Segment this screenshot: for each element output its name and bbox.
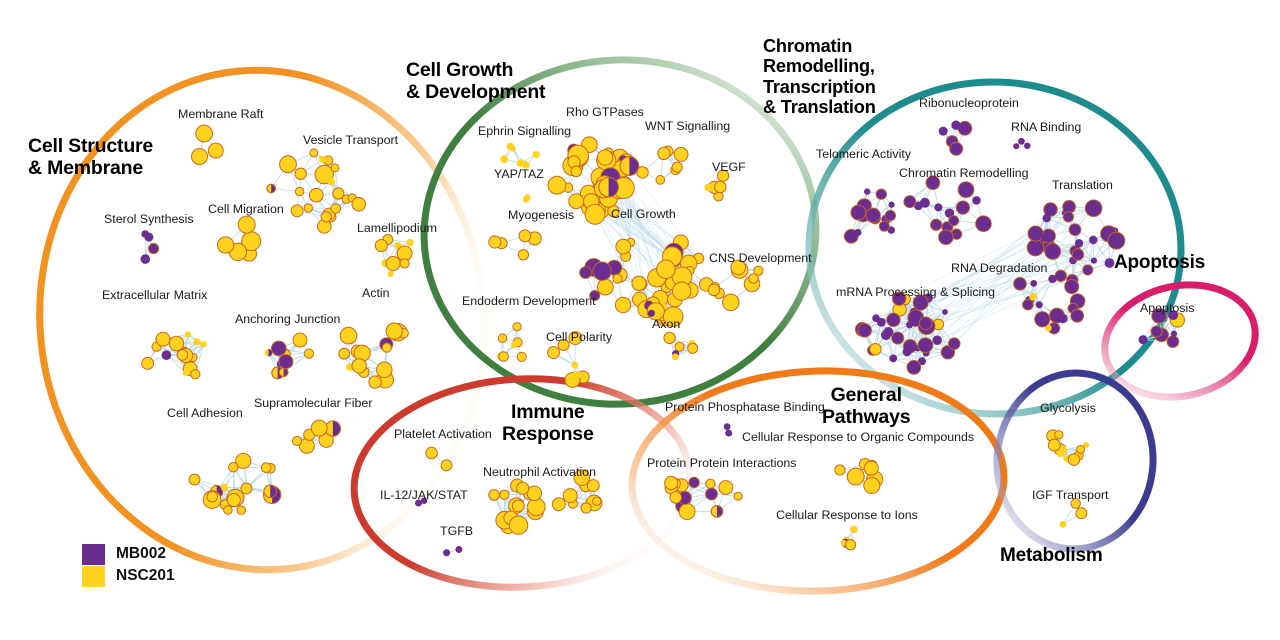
cluster-label-glycolysis: Glycolysis [1040,401,1096,415]
network-node [321,212,331,222]
network-node [513,323,521,331]
cluster-label-mrna-processing-splicing: mRNA Processing & Splicing [836,285,995,299]
cluster-label-axon: Axon [652,317,680,331]
network-node [386,323,402,339]
network-node [950,142,963,155]
cluster-label-vesicle-transport: Vesicle Transport [303,133,398,147]
network-node [264,485,277,498]
pathway-network-figure: Cell Structure & Membrane Cell Growth & … [0,0,1280,640]
network-node [1108,232,1125,249]
network-node [455,546,462,553]
network-node [227,493,240,506]
network-node [279,368,288,377]
cluster-label-rho-gtpases: Rho GTPases [566,105,644,119]
cluster-label-ephrin-signalling: Ephrin Signalling [478,124,571,138]
network-node [1048,439,1060,451]
network-node [657,260,675,278]
network-node [956,201,969,214]
cluster-label-cell-migration: Cell Migration [208,202,284,216]
network-node [725,430,732,437]
cluster-label-il12-jak-stat: IL-12/JAK/STAT [380,488,468,502]
cluster-label-cns-development: CNS Development [709,251,812,265]
network-node [293,333,307,347]
network-node [674,147,688,161]
network-node [949,216,959,226]
network-node [185,331,191,337]
network-node [339,348,350,359]
network-node [864,188,870,194]
network-node [377,362,393,378]
network-node [261,463,271,473]
network-canvas [0,0,1280,640]
network-node [1048,275,1056,283]
group-title-general-pathways: General Pathways [822,385,910,429]
network-node [1167,336,1179,348]
network-node [672,162,682,172]
network-node [512,500,524,512]
network-node [1029,293,1037,301]
network-node [517,482,529,494]
network-node [400,259,409,268]
network-node [708,284,720,296]
network-node [295,168,306,179]
network-node [183,370,189,376]
network-node [552,498,565,511]
network-node [648,310,655,317]
cluster-label-lamellipodium: Lamellipodium [357,221,437,235]
cluster-label-platelet-activation: Platelet Activation [394,427,492,441]
network-node [1036,301,1043,308]
network-node [581,503,591,513]
cluster-label-sterol-synthesis: Sterol Synthesis [104,212,194,226]
legend-label-mb002: MB002 [116,545,166,563]
cluster-label-translation: Translation [1052,178,1113,192]
network-node [835,465,845,475]
network-node [328,178,335,185]
network-node [510,146,516,152]
network-node [518,250,528,260]
network-node [1023,299,1034,310]
network-node [870,343,881,354]
network-node [207,491,217,501]
legend-item-mb002: MB002 [82,543,175,565]
network-node [519,230,531,242]
cluster-label-membrane-raft: Membrane Raft [178,107,263,121]
cluster-label-rna-binding: RNA Binding [1011,120,1081,134]
network-node [1059,521,1066,528]
network-node [280,156,297,173]
network-node [333,188,344,199]
network-node [304,349,313,358]
network-node [532,151,539,158]
network-node [613,274,622,283]
network-node [193,338,200,345]
network-node [907,360,921,374]
network-node [563,489,577,503]
network-node [156,332,170,346]
network-node [672,353,679,360]
network-node [1027,239,1044,256]
network-node [847,468,864,485]
cluster-label-rna-degradation: RNA Degradation [951,261,1047,275]
network-node [704,184,712,192]
network-node [675,342,684,351]
legend-label-nsc201: NSC201 [116,567,175,585]
network-node [375,239,387,251]
network-node [885,210,896,221]
network-node [1058,314,1067,323]
network-node [331,164,339,172]
cluster-label-chromatin-remodelling: Chromatin Remodelling [899,166,1028,180]
network-node [850,525,858,533]
network-node [734,492,742,500]
network-node [620,157,639,176]
network-node [200,341,207,348]
network-node [1068,454,1080,466]
network-node [369,376,381,388]
network-node [191,148,207,164]
network-node [279,355,293,369]
network-node [1013,143,1019,149]
network-node [754,266,763,275]
network-node [658,147,670,159]
cluster-label-neutrophil-activation: Neutrophil Activation [483,465,596,479]
network-node [441,460,452,471]
network-node [724,423,731,430]
network-node [616,239,631,254]
network-node [951,121,960,130]
network-node [1071,309,1084,322]
network-node [1041,234,1048,241]
network-node [864,477,880,493]
network-node [208,143,223,158]
network-node [585,204,605,224]
network-node [972,196,981,205]
network-node [265,349,273,357]
network-node [443,549,450,556]
cluster-label-endoderm-development: Endoderm Development [462,294,596,308]
cluster-label-cellular-response-organic-compounds: Cellular Response to Organic Compounds [742,430,974,444]
network-node [879,221,889,231]
network-node [1014,277,1027,290]
network-node [352,197,366,211]
network-node [500,155,508,163]
cluster-label-cell-polarity: Cell Polarity [546,330,612,344]
network-node [706,488,718,500]
network-node [148,243,158,253]
network-node [407,239,414,246]
network-node [679,504,695,520]
network-node [908,196,914,202]
network-node [177,350,188,361]
network-node [845,540,855,550]
cluster-label-apoptosis-cluster: Apoptosis [1140,301,1194,315]
cluster-label-igf-transport: IGF Transport [1032,488,1108,502]
network-node [191,370,200,379]
network-node [499,352,509,362]
network-node [580,267,592,279]
network-node [1057,451,1064,458]
cluster-label-extracellular-matrix: Extracellular Matrix [102,288,207,302]
network-node [319,156,326,163]
network-node [569,194,584,209]
network-node [719,481,733,495]
network-node [911,319,919,327]
network-node [587,480,599,492]
network-node [142,357,154,369]
network-node [573,371,581,379]
network-node [887,313,901,327]
network-node [597,150,612,165]
network-node [1018,138,1025,145]
network-node [632,276,646,290]
network-node [976,216,992,232]
network-node [903,347,912,356]
cluster-label-telomeric-activity: Telomeric Activity [816,147,911,161]
network-node [144,233,153,242]
network-node [1171,331,1177,337]
network-node [292,436,301,445]
network-node [1083,265,1093,275]
network-node [711,506,723,518]
mb002-swatch [82,544,105,565]
network-node [1030,280,1037,287]
network-node [548,176,566,194]
network-node [1045,244,1061,260]
network-node [637,167,648,178]
cluster-label-wnt-signalling: WNT Signalling [645,119,730,133]
network-node [715,181,727,193]
network-node [689,477,700,488]
network-node [958,182,974,198]
network-node [267,184,276,193]
network-node [1055,270,1066,281]
network-node [571,362,578,369]
network-node [599,177,619,197]
group-title-chromatin-transcription-translation: Chromatin Remodelling, Transcription & T… [763,36,876,118]
network-node [295,187,304,196]
network-node [217,237,233,253]
network-node [221,484,229,492]
network-node [939,230,954,245]
network-node [670,492,682,504]
network-node [942,309,948,315]
network-node [1055,431,1063,439]
network-node [723,294,739,310]
network-node [1065,280,1079,294]
network-node [382,343,391,352]
network-node [864,461,878,475]
network-node [1085,200,1102,217]
group-title-immune-response: Immune Response [502,402,594,446]
network-node [489,236,501,248]
network-node [310,149,318,157]
network-node [1069,224,1081,236]
network-node [688,343,698,353]
network-node [872,314,880,322]
cluster-label-myogenesis: Myogenesis [508,208,574,222]
network-node [851,205,866,220]
network-node [509,516,527,534]
network-node [498,334,507,343]
network-node [1105,258,1115,268]
network-node [196,125,213,142]
network-node [593,262,611,280]
network-node [939,127,948,136]
network-node [352,359,366,373]
network-node [858,324,872,338]
network-node [238,216,255,233]
network-node [948,338,960,350]
network-node [656,176,665,185]
network-node [919,317,932,330]
network-node [932,335,941,344]
network-node [390,261,398,269]
network-node [524,194,530,200]
cluster-label-supramolecular-fiber: Supramolecular Fiber [254,396,372,410]
network-node [311,420,327,436]
network-node [426,447,438,459]
network-node [244,484,251,491]
network-node [189,474,200,485]
cluster-label-cell-growth: Cell Growth [611,207,676,221]
network-node [706,479,715,488]
network-node [489,490,500,501]
network-node [291,205,303,217]
network-node [517,352,526,361]
network-node [548,347,560,359]
network-node [304,204,312,212]
network-node [1076,508,1087,519]
network-node [141,254,151,264]
network-node [340,327,357,344]
network-node [500,490,509,499]
network-node [597,279,613,295]
network-node [1077,445,1085,453]
network-node [511,342,518,349]
network-node [664,332,675,343]
cluster-label-tgfb: TGFB [440,524,473,538]
cluster-label-cell-adhesion: Cell Adhesion [167,406,243,420]
cluster-label-anchoring-junction: Anchoring Junction [235,312,340,326]
network-node [229,462,238,471]
network-node [1063,212,1073,222]
group-title-cell-growth-development: Cell Growth & Development [406,60,545,104]
cluster-label-vegf: VEGF [712,160,746,174]
network-node [889,355,897,363]
network-node [169,336,183,350]
network-node [930,219,941,230]
network-node [1139,335,1148,344]
network-node [593,497,601,505]
network-node [162,350,172,360]
legend: MB002 NSC201 [82,543,175,587]
network-node [1091,258,1097,264]
network-node [1024,143,1030,149]
group-title-cell-structure-membrane: Cell Structure & Membrane [28,136,153,180]
network-node [665,476,678,489]
cluster-label-protein-phosphatase-binding: Protein Phosphatase Binding [665,400,825,414]
network-node [892,332,904,344]
ellipse-chromatin-transcription-translation [803,76,1186,421]
network-node [1075,239,1083,247]
cluster-label-actin: Actin [362,286,390,300]
network-node [237,506,246,515]
group-title-apoptosis: Apoptosis [1114,252,1205,273]
nsc201-swatch [82,566,105,587]
network-node [1035,312,1050,327]
network-node [271,341,286,356]
network-node [1043,214,1051,222]
network-node [1028,226,1043,241]
network-node [673,282,691,300]
legend-item-nsc201: NSC201 [82,565,175,587]
network-node [615,297,630,312]
network-node [571,166,582,177]
network-node [866,208,880,222]
cluster-label-yap-taz: YAP/TAZ [494,167,544,181]
network-node [876,189,886,199]
cluster-label-protein-protein-interactions: Protein Protein Interactions [647,456,796,470]
network-node [854,229,861,236]
network-node [224,506,233,515]
cluster-label-cellular-response-ions: Cellular Response to Ions [776,508,918,522]
network-node [388,271,394,277]
network-node [1089,236,1097,244]
network-node [934,203,942,211]
network-node [1072,249,1084,261]
network-node [888,202,894,208]
network-node [1151,326,1162,337]
network-node [310,188,324,202]
network-node [331,204,341,214]
network-node [918,338,933,353]
group-title-metabolism: Metabolism [1000,545,1103,566]
cluster-label-ribonucleoprotein: Ribonucleoprotein [919,96,1019,110]
